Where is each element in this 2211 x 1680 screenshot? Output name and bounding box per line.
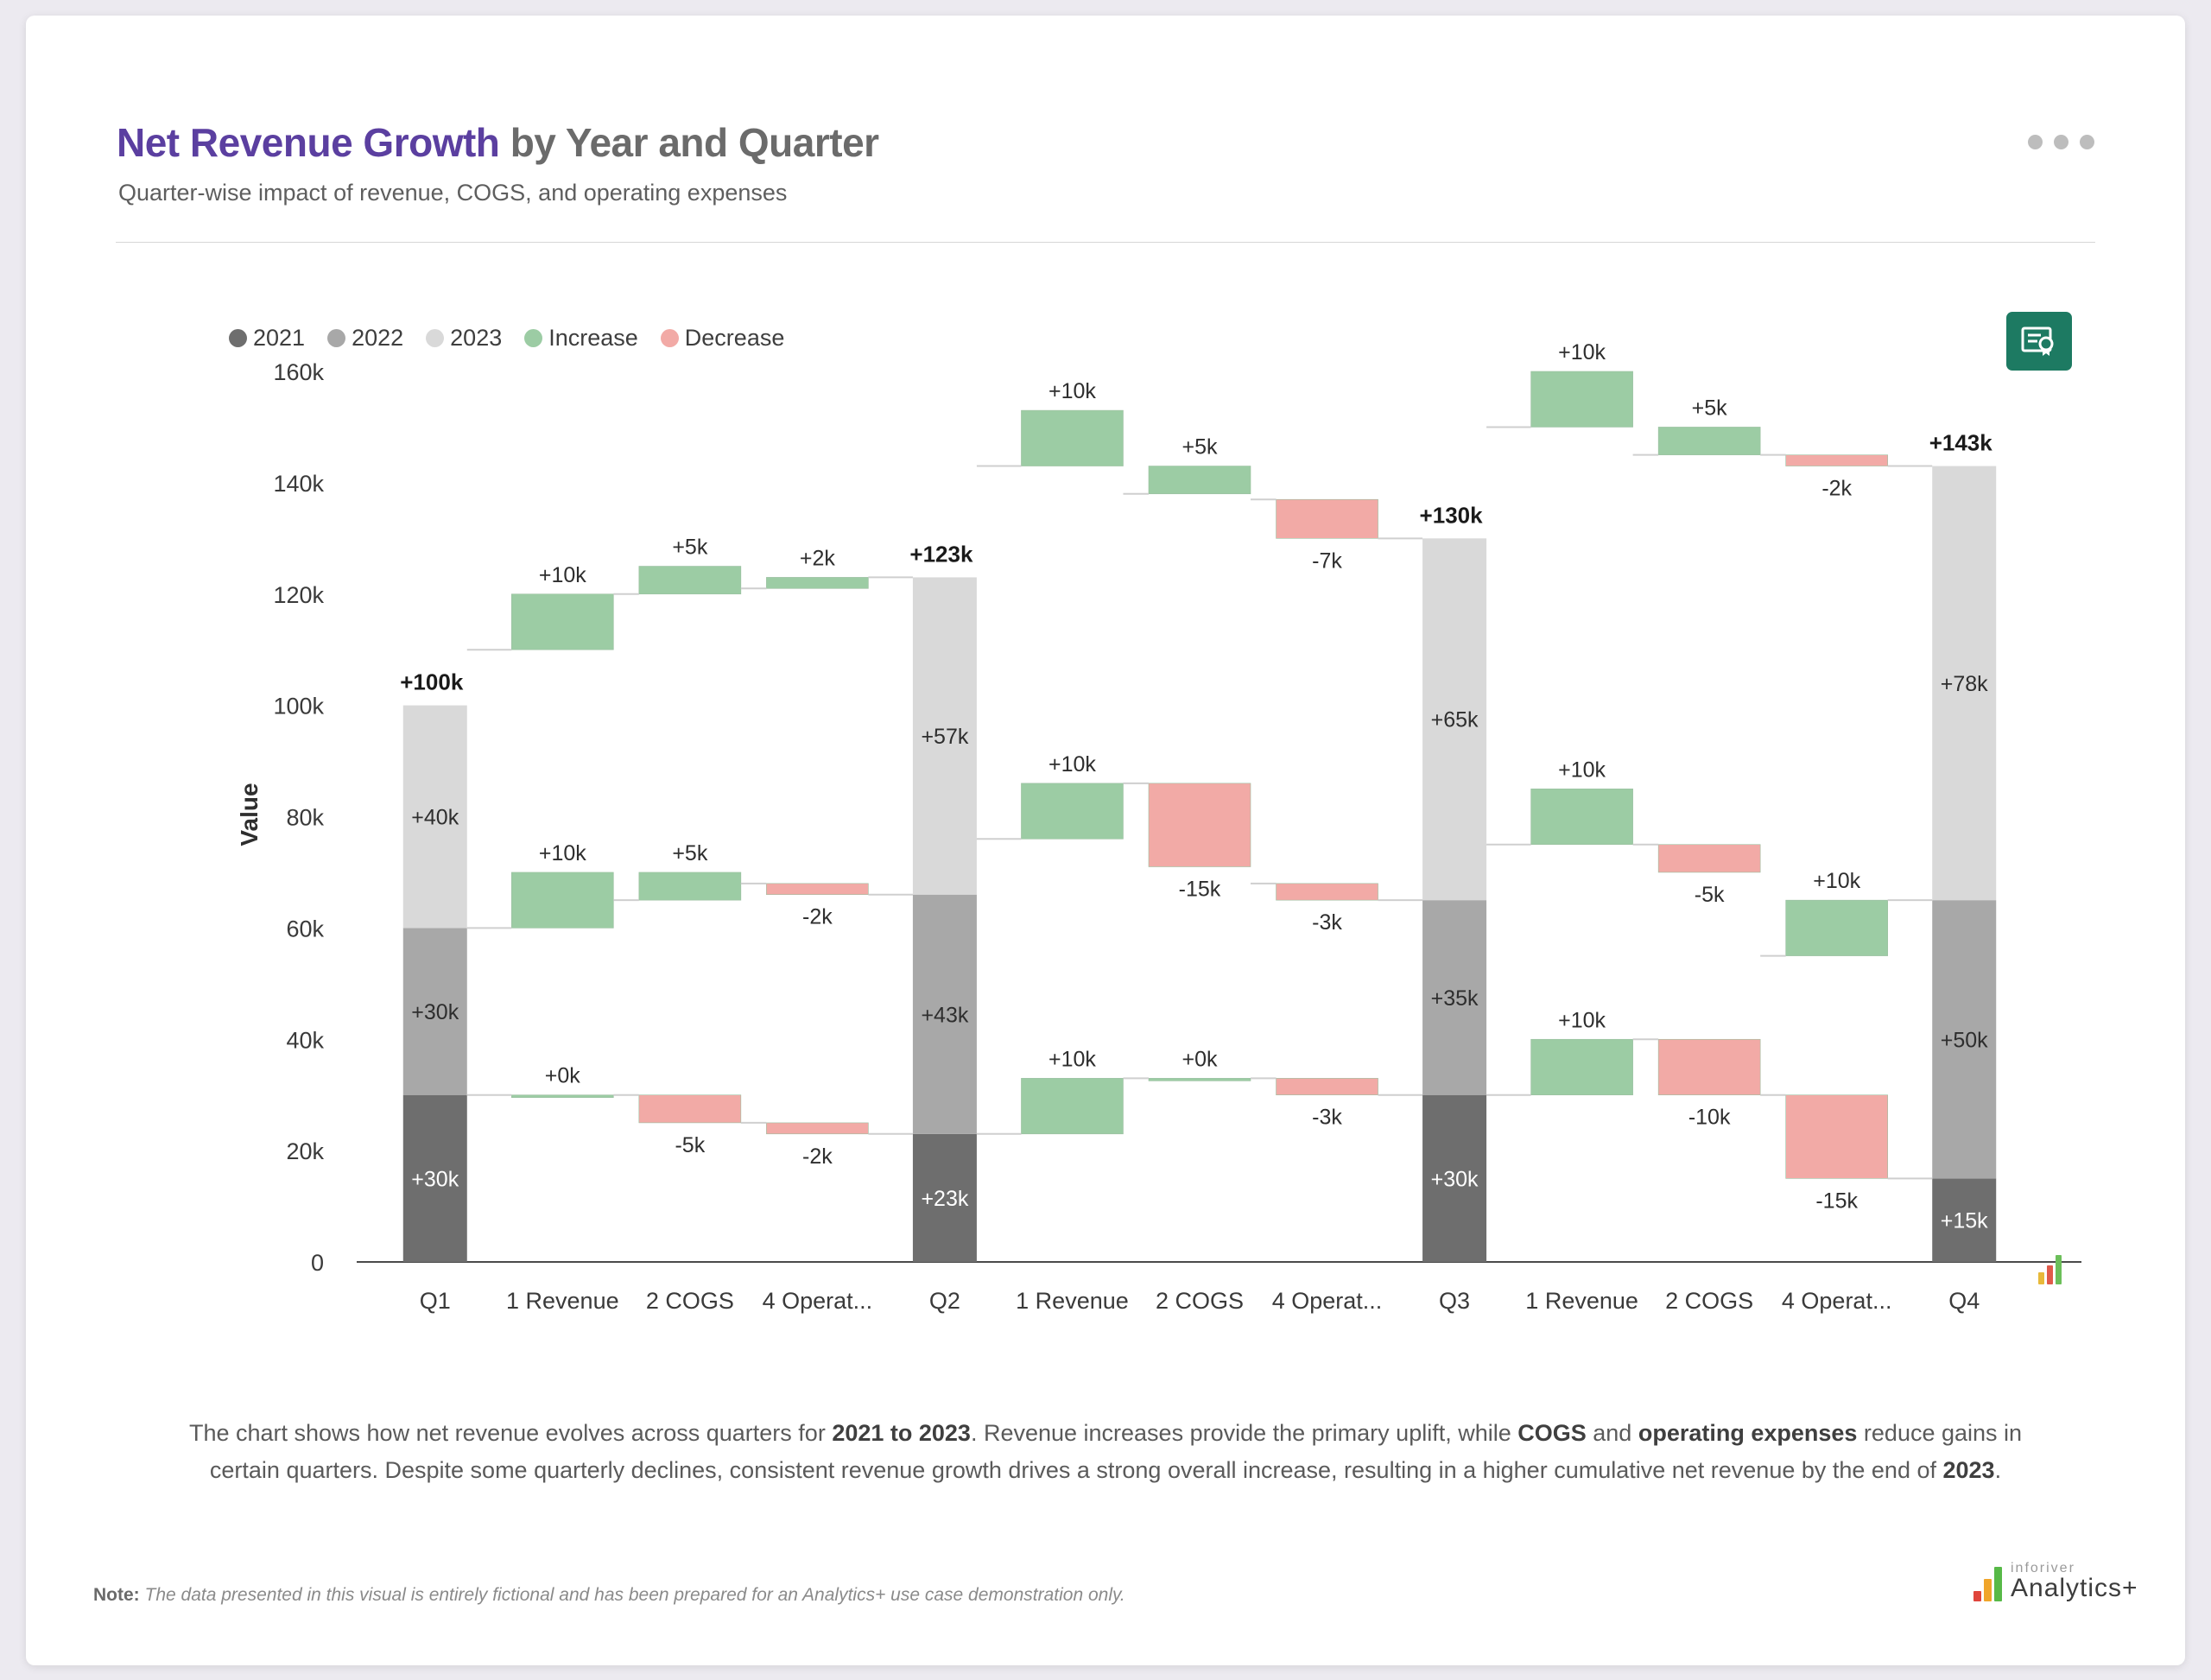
delta-label: +10k [1558, 1008, 1606, 1032]
y-tick-label: 0 [311, 1250, 324, 1276]
delta-label: -15k [1815, 1189, 1858, 1213]
footnote-label: Note: [93, 1585, 140, 1605]
delta-label: -3k [1312, 1106, 1342, 1130]
increase-bar[interactable] [639, 567, 741, 594]
delta-label: -10k [1688, 1106, 1731, 1130]
increase-bar[interactable] [511, 872, 613, 928]
chart-description-text: The chart shows how net revenue evolves … [189, 1420, 2022, 1483]
total-segment-label: +65k [1431, 708, 1479, 732]
visual-card: Net Revenue Growth by Year and Quarter Q… [26, 16, 2185, 1665]
y-tick-label: 100k [273, 694, 324, 720]
total-segment-label: +50k [1941, 1028, 1988, 1052]
x-tick-label: 2 COGS [1665, 1288, 1753, 1314]
increase-bar[interactable] [1531, 789, 1633, 844]
delta-label: +10k [1813, 869, 1860, 893]
total-segment-label: +35k [1431, 986, 1479, 1011]
delta-label: -2k [802, 905, 833, 929]
y-tick-label: 80k [286, 805, 324, 831]
brand-name-bottom: Analytics+ [2011, 1575, 2138, 1601]
footnote-text: The data presented in this visual is ent… [145, 1585, 1125, 1605]
increase-bar[interactable] [1021, 1078, 1123, 1133]
x-tick-label: 2 COGS [1156, 1288, 1244, 1314]
delta-label: +5k [672, 841, 708, 865]
total-segment-label: +78k [1941, 672, 1988, 696]
delta-label: -2k [802, 1144, 833, 1169]
increase-bar[interactable] [1149, 466, 1251, 494]
delta-label: +10k [1048, 1047, 1096, 1071]
total-segment-label: +15k [1941, 1209, 1988, 1233]
total-segment-label: +30k [1431, 1167, 1479, 1191]
decrease-bar[interactable] [1149, 783, 1251, 867]
chart-canvas: 020k40k60k80k100k120k140k160kValueQ11 Re… [26, 16, 2185, 1363]
x-tick-label: Q4 [1948, 1288, 1980, 1314]
decrease-bar[interactable] [1658, 1039, 1760, 1094]
delta-label: +5k [672, 536, 708, 560]
increase-bar[interactable] [639, 872, 741, 900]
delta-label: -5k [675, 1133, 705, 1157]
x-tick-label: 4 Operat... [1782, 1288, 1892, 1314]
brand-bar-green [1994, 1567, 2002, 1601]
delta-label: +10k [1048, 752, 1096, 777]
x-tick-label: Q3 [1439, 1288, 1470, 1314]
delta-label: +0k [1182, 1047, 1218, 1071]
quarter-total-label: +100k [400, 669, 464, 695]
delta-label: -5k [1695, 883, 1725, 907]
increase-bar[interactable] [1021, 410, 1123, 466]
delta-label: +10k [1558, 340, 1606, 365]
increase-bar[interactable] [766, 577, 868, 588]
increase-bar[interactable] [1531, 371, 1633, 427]
delta-label: -15k [1179, 877, 1221, 901]
total-segment-label: +30k [411, 1000, 459, 1024]
total-segment-label: +43k [921, 1003, 968, 1027]
x-tick-label: 4 Operat... [1272, 1288, 1383, 1314]
y-tick-label: 160k [273, 359, 324, 385]
spark-bar-3 [2056, 1255, 2062, 1284]
decrease-bar[interactable] [1786, 1095, 1888, 1179]
total-segment-label: +23k [921, 1187, 968, 1211]
delta-label: -7k [1312, 548, 1342, 573]
delta-label: +10k [539, 563, 586, 587]
brand-bar-orange [1984, 1579, 1992, 1601]
quarter-total-label: +143k [1929, 430, 1993, 456]
x-tick-label: 1 Revenue [506, 1288, 619, 1314]
brand-bar-red [1973, 1591, 1981, 1601]
increase-bar[interactable] [1658, 427, 1760, 454]
decrease-bar[interactable] [766, 1123, 868, 1134]
increase-bar[interactable] [1021, 783, 1123, 839]
brand-logo-icon [1973, 1567, 2002, 1601]
delta-label: +0k [545, 1064, 581, 1088]
decrease-bar[interactable] [1277, 1078, 1378, 1094]
x-tick-label: 4 Operat... [763, 1288, 873, 1314]
total-segment-label: +57k [921, 725, 968, 749]
decrease-bar[interactable] [639, 1095, 741, 1123]
increase-bar[interactable] [511, 1095, 613, 1098]
decrease-bar[interactable] [766, 884, 868, 895]
delta-label: +2k [800, 546, 836, 570]
increase-bar[interactable] [1531, 1039, 1633, 1094]
increase-bar[interactable] [1786, 900, 1888, 955]
x-tick-label: 1 Revenue [1525, 1288, 1638, 1314]
decrease-bar[interactable] [1277, 499, 1378, 538]
y-axis-title: Value [236, 783, 263, 846]
delta-label: -3k [1312, 910, 1342, 935]
y-tick-label: 60k [286, 916, 324, 941]
chart-description: The chart shows how net revenue evolves … [164, 1415, 2047, 1489]
x-tick-label: 2 COGS [646, 1288, 734, 1314]
delta-label: +10k [539, 841, 586, 865]
y-tick-label: 120k [273, 582, 324, 608]
brand-wordmark: inforiver Analytics+ [2011, 1562, 2138, 1601]
y-tick-label: 40k [286, 1027, 324, 1053]
decrease-bar[interactable] [1277, 884, 1378, 900]
y-tick-label: 20k [286, 1138, 324, 1164]
x-tick-label: 1 Revenue [1016, 1288, 1129, 1314]
x-tick-label: Q2 [929, 1288, 960, 1314]
x-tick-label: Q1 [420, 1288, 451, 1314]
mini-sparkline-icon [2038, 1255, 2062, 1284]
quarter-total-label: +123k [909, 541, 973, 567]
decrease-bar[interactable] [1786, 455, 1888, 466]
decrease-bar[interactable] [1658, 845, 1760, 872]
brand-logo: inforiver Analytics+ [1973, 1562, 2138, 1601]
increase-bar[interactable] [511, 594, 613, 650]
spark-bar-1 [2038, 1272, 2044, 1284]
total-segment-label: +30k [411, 1167, 459, 1191]
footnote: Note: The data presented in this visual … [93, 1585, 1125, 1606]
total-segment-label: +40k [411, 806, 459, 830]
quarter-total-label: +130k [1420, 502, 1484, 528]
delta-label: -2k [1821, 477, 1852, 501]
delta-label: +10k [1558, 758, 1606, 782]
spark-bar-2 [2047, 1265, 2053, 1284]
delta-label: +5k [1692, 396, 1728, 420]
delta-label: +10k [1048, 379, 1096, 403]
increase-bar[interactable] [1149, 1078, 1251, 1081]
y-tick-label: 140k [273, 471, 324, 497]
delta-label: +5k [1182, 435, 1218, 460]
